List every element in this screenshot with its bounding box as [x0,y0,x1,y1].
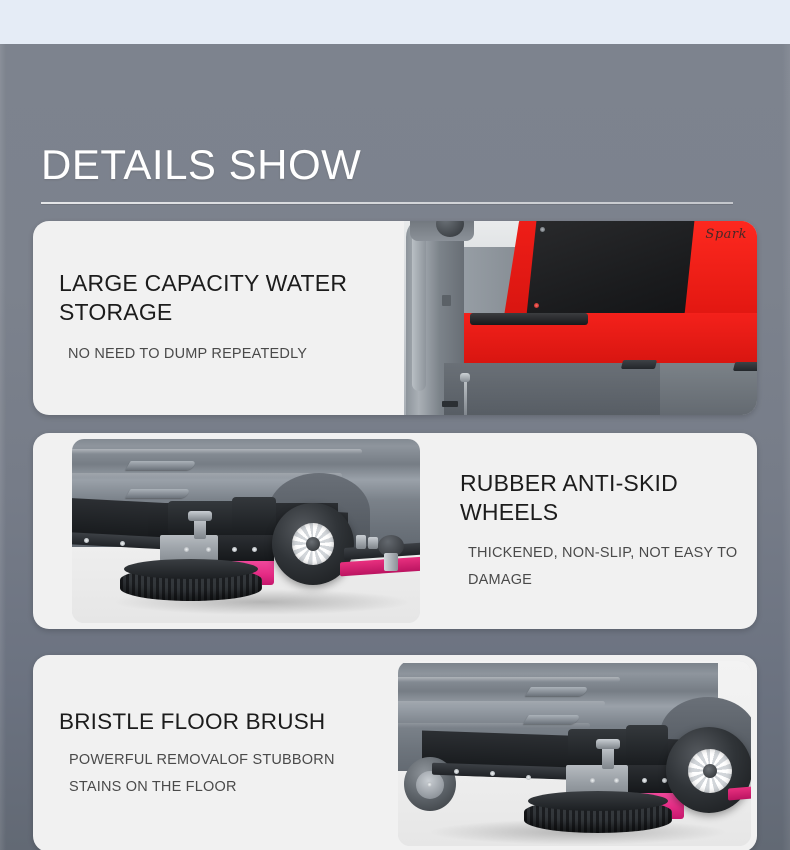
card-subtitle: THICKENED, NON-SLIP, NOT EASY TO DAMAGE [460,540,747,594]
anti-skid-wheel-photo [72,439,420,623]
card-text-block: BRISTLE FLOOR BRUSH POWERFUL REMOVALOF S… [33,655,398,850]
bristle-floor-brush-photo [398,661,751,846]
detail-card-anti-skid-wheels[interactable]: RUBBER ANTI-SKID WHEELS THICKENED, NON-S… [33,433,757,629]
top-color-band [0,0,790,44]
card-subtitle: POWERFUL REMOVALOF STUBBORN STAINS ON TH… [59,747,388,801]
page-title: DETAILS SHOW [41,141,361,189]
card-text-block: RUBBER ANTI-SKID WHEELS THICKENED, NON-S… [420,433,757,629]
card-title: LARGE CAPACITY WATER STORAGE [59,269,394,327]
details-show-page: DETAILS SHOW LARGE CAPACITY WATER STORAG… [0,0,790,850]
card-image-panel: Spark [404,221,757,415]
main-gray-panel: DETAILS SHOW LARGE CAPACITY WATER STORAG… [0,44,790,850]
spark-watermark: Spark [705,227,747,242]
card-image-panel [72,439,420,623]
card-title: BRISTLE FLOOR BRUSH [59,707,388,736]
card-text-block: LARGE CAPACITY WATER STORAGE NO NEED TO … [33,221,404,415]
title-divider [41,202,733,204]
card-title: RUBBER ANTI-SKID WHEELS [460,469,747,527]
card-image-panel [398,661,751,846]
card-subtitle: NO NEED TO DUMP REPEATEDLY [59,341,394,368]
red-water-tank-photo: Spark [404,221,757,415]
detail-card-water-storage[interactable]: LARGE CAPACITY WATER STORAGE NO NEED TO … [33,221,757,415]
detail-card-bristle-brush[interactable]: BRISTLE FLOOR BRUSH POWERFUL REMOVALOF S… [33,655,757,850]
